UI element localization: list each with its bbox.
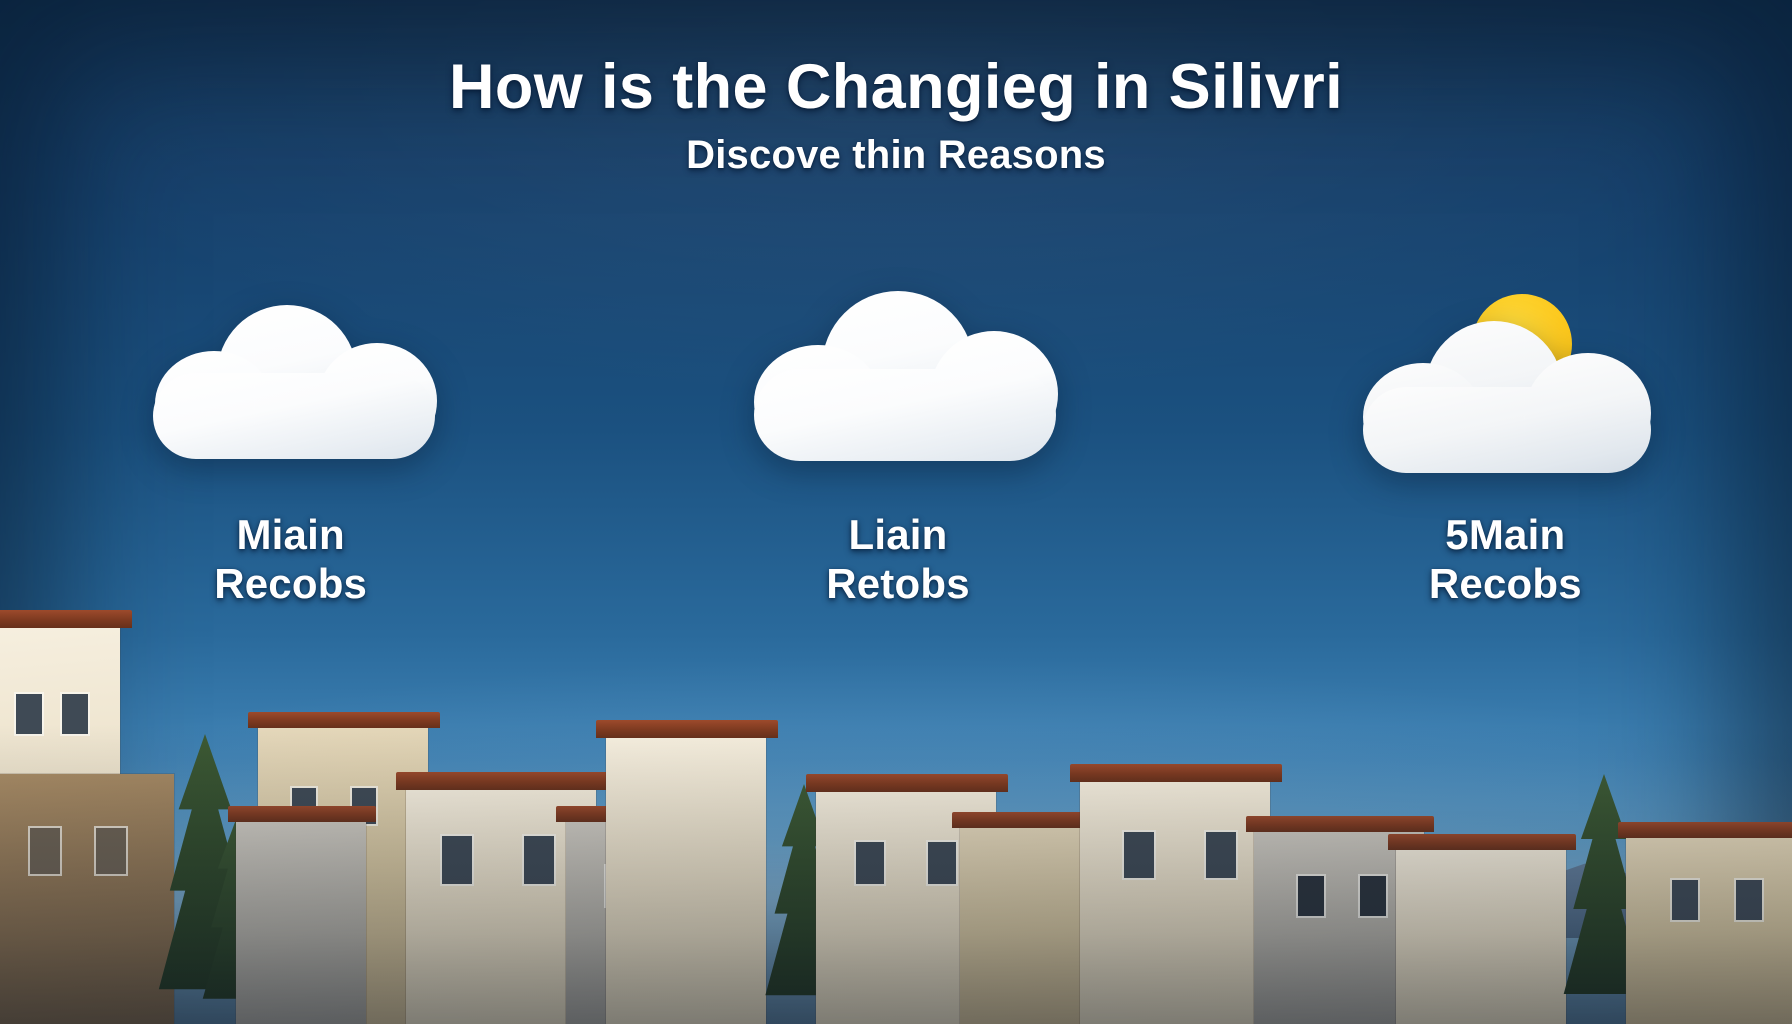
column-label-line1: Liain: [826, 511, 970, 560]
building: [0, 774, 174, 1024]
column-label-line1: Miain: [214, 511, 367, 560]
roof: [806, 774, 1008, 792]
building: [816, 788, 996, 1024]
window: [1124, 832, 1154, 878]
building: [1080, 778, 1270, 1024]
window: [856, 842, 884, 884]
roof: [228, 806, 376, 822]
column-label-line2: Recobs: [214, 560, 367, 609]
building: [406, 786, 596, 1024]
tree: [150, 734, 260, 1024]
window: [62, 694, 88, 734]
icon-container: [1345, 255, 1665, 505]
column-label-1: Miain Recobs: [214, 511, 367, 608]
tree: [758, 784, 850, 1024]
roof: [1070, 764, 1282, 782]
window: [1360, 876, 1386, 916]
roof: [396, 772, 608, 790]
cloud-icon: [750, 289, 1060, 461]
window: [1206, 832, 1236, 878]
window: [524, 836, 554, 884]
icon-container: [131, 255, 451, 505]
building: [0, 624, 120, 1024]
window: [62, 792, 88, 834]
window: [292, 788, 316, 824]
roof: [596, 720, 778, 738]
roof: [1618, 822, 1792, 838]
cloud-icon: [149, 299, 439, 459]
building: [1254, 828, 1424, 1024]
roof: [248, 712, 440, 728]
cloud-icon: [1359, 313, 1655, 473]
tree: [1556, 774, 1652, 1024]
window: [928, 842, 956, 884]
weather-column-2: Liain Retobs: [599, 255, 1196, 608]
window: [1298, 876, 1324, 916]
cloud-base: [153, 373, 435, 459]
window: [606, 866, 632, 906]
distant-hills: [1232, 818, 1792, 938]
poster-header: How is the Changieg in Silivri Discove t…: [0, 52, 1792, 178]
window: [16, 694, 42, 734]
weather-columns: Miain Recobs Liain Retobs: [0, 255, 1792, 608]
window: [1672, 880, 1698, 920]
window: [30, 828, 60, 874]
weather-poster: How is the Changieg in Silivri Discove t…: [0, 0, 1792, 1024]
roof: [556, 806, 748, 822]
window: [16, 792, 42, 834]
icon-container: [738, 255, 1058, 505]
building: [258, 724, 428, 1024]
weather-column-1: Miain Recobs: [0, 255, 589, 608]
window: [96, 828, 126, 874]
window: [1736, 880, 1762, 920]
roof: [952, 812, 1120, 828]
cloud-base: [1363, 387, 1651, 473]
page-title: How is the Changieg in Silivri: [0, 52, 1792, 123]
building: [960, 824, 1110, 1024]
building: [606, 734, 766, 1024]
building: [566, 818, 736, 1024]
tree: [196, 814, 280, 1024]
roof: [1388, 834, 1576, 850]
roof: [0, 610, 132, 628]
building: [236, 818, 366, 1024]
roof: [1246, 816, 1434, 832]
cloud-base: [754, 369, 1056, 461]
town-shading: [0, 724, 1792, 1024]
window: [442, 836, 472, 884]
column-label-3: 5Main Recobs: [1429, 511, 1582, 608]
column-label-line1: 5Main: [1429, 511, 1582, 560]
building: [1396, 846, 1566, 1024]
weather-column-3: 5Main Recobs: [1207, 255, 1792, 608]
column-label-line2: Retobs: [826, 560, 970, 609]
window: [668, 866, 694, 906]
building: [1626, 834, 1792, 1024]
window: [352, 788, 376, 824]
page-subtitle: Discove thin Reasons: [0, 133, 1792, 178]
column-label-line2: Recobs: [1429, 560, 1582, 609]
column-label-2: Liain Retobs: [826, 511, 970, 608]
